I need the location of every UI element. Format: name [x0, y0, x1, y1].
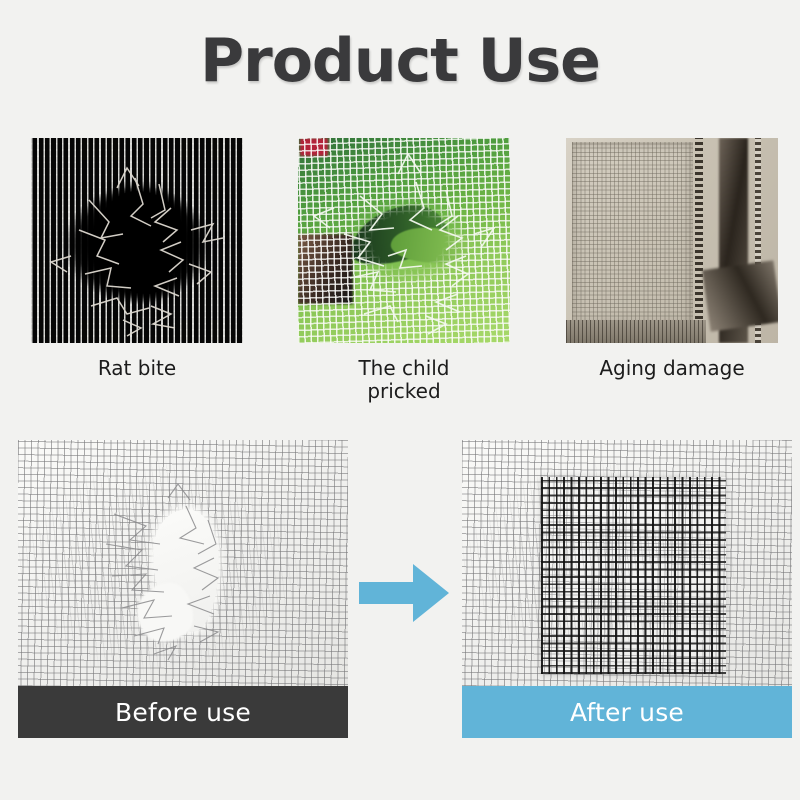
aging-damage-photo — [566, 138, 778, 343]
damage-example-rat-bite: Rat bite — [31, 138, 243, 380]
damage-example-child-pricked: The child pricked — [298, 138, 510, 403]
rat-bite-photo — [31, 138, 243, 343]
before-photo — [18, 440, 348, 686]
dark-worn-area — [702, 260, 778, 331]
before-use-label-bar: Before use — [18, 686, 348, 738]
damage-caption: The child pricked — [298, 357, 510, 403]
aged-mesh-panel — [572, 142, 693, 324]
after-photo — [462, 440, 792, 686]
damage-caption: Aging damage — [566, 357, 778, 380]
frayed-strands-overlay — [31, 138, 243, 343]
before-use-label: Before use — [115, 698, 251, 727]
before-panel: Before use — [18, 440, 348, 738]
after-use-label: After use — [570, 698, 684, 727]
after-panel: After use — [462, 440, 792, 738]
right-arrow-icon — [357, 558, 451, 628]
damage-example-aging-damage: Aging damage — [566, 138, 778, 380]
black-repair-patch — [541, 477, 726, 674]
damage-examples-row: Rat bite — [0, 138, 800, 398]
after-use-label-bar: After use — [462, 686, 792, 738]
child-pricked-photo — [298, 138, 510, 343]
bottom-mesh-strip — [566, 320, 706, 343]
tear-strands-overlay — [18, 440, 348, 686]
frayed-strands-overlay — [298, 138, 510, 343]
frame-bead-strip — [695, 138, 702, 343]
damage-caption: Rat bite — [31, 357, 243, 380]
page-title: Product Use — [0, 26, 800, 96]
